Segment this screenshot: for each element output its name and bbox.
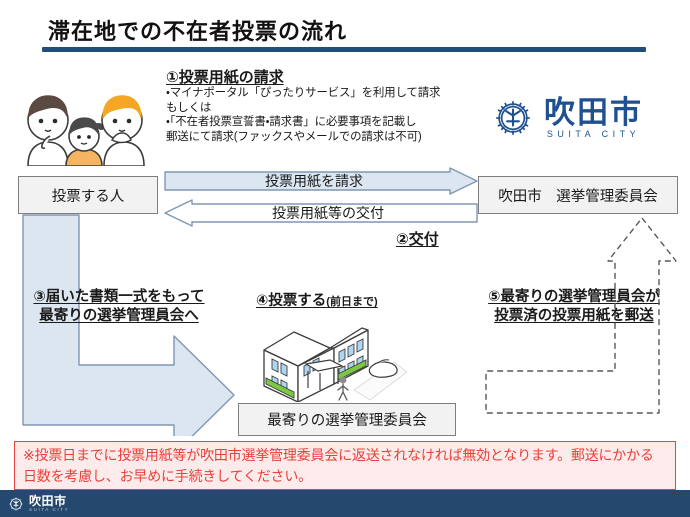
step5-heading: ⑤最寄りの選挙管理員会が 投票済の投票用紙を郵送 bbox=[466, 288, 682, 326]
arrow-issue-label: 投票用紙等の交付 bbox=[178, 203, 478, 223]
suita-city-logo: 吹田市 SUITA CITY bbox=[492, 96, 643, 140]
warning-banner: ※投票日までに投票用紙等が吹田市選挙管理委員会に返送されなければ無効となります。… bbox=[14, 441, 676, 490]
family-illustration bbox=[16, 88, 156, 166]
footer-suita-emblem-icon bbox=[8, 496, 24, 512]
box-voter: 投票する人 bbox=[18, 176, 158, 214]
footer-logo-kanji: 吹田市 bbox=[29, 495, 69, 507]
step3-heading: ③届いた書類一式をもって 最寄りの選挙管理員会へ bbox=[8, 288, 230, 326]
slide-canvas: 滞在地での不在者投票の流れ 吹田市 SUITA CITY bbox=[0, 0, 690, 517]
step4-heading: ④投票する(前日まで) bbox=[256, 289, 378, 310]
step1-body-text: ・マイナポータル「ぴったりサービス」を利用して請求 もしくは ・「不在者投票宣誓… bbox=[166, 86, 496, 144]
box-suita-election-committee: 吹田市 選挙管理委員会 bbox=[478, 176, 678, 214]
step4-heading-main: ④投票する bbox=[256, 293, 326, 309]
footer-logo-romaji: SUITA CITY bbox=[29, 507, 69, 513]
step1-heading: ①投票用紙の請求 bbox=[166, 66, 284, 87]
step4-heading-sub: (前日まで) bbox=[326, 296, 377, 308]
city-hall-building-illustration bbox=[258, 316, 408, 402]
page-title: 滞在地での不在者投票の流れ bbox=[48, 14, 347, 46]
arrow-request-label: 投票用紙を請求 bbox=[164, 171, 464, 191]
footer-bar: 吹田市 SUITA CITY bbox=[0, 490, 690, 517]
footer-logo: 吹田市 SUITA CITY bbox=[8, 495, 69, 513]
step2-heading: ②交付 bbox=[396, 228, 439, 249]
suita-logo-kanji: 吹田市 bbox=[544, 96, 643, 129]
title-underline-rule bbox=[42, 47, 646, 52]
suita-logo-romaji: SUITA CITY bbox=[544, 129, 643, 140]
suita-city-emblem-icon bbox=[492, 97, 534, 139]
box-nearest-election-committee: 最寄りの選挙管理委員会 bbox=[238, 403, 456, 436]
